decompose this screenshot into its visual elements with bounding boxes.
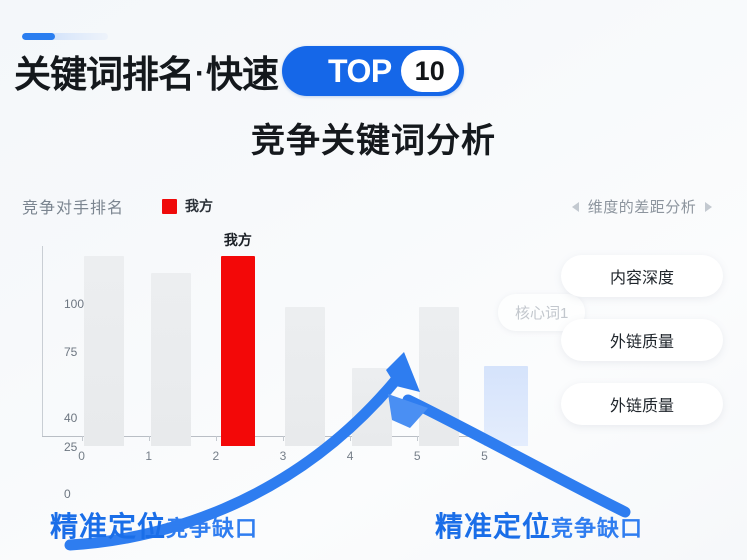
bar-5-blue[interactable] bbox=[484, 366, 528, 446]
bar-slot: 我方 bbox=[204, 256, 271, 446]
caption-left-primary: 精准定位 bbox=[50, 505, 166, 545]
x-axis-tick-mark bbox=[216, 436, 217, 441]
caption-right-secondary: 竞争缺口 bbox=[551, 511, 643, 543]
bar-0-grey[interactable] bbox=[84, 256, 124, 446]
x-axis-tick: 3 bbox=[249, 440, 316, 463]
progress-bar bbox=[22, 33, 108, 40]
badge-number: 10 bbox=[401, 50, 459, 92]
x-axis-tick-mark bbox=[350, 436, 351, 441]
badge-word: TOP bbox=[328, 53, 392, 90]
chart-plot-area: 1007540250 我方 bbox=[22, 246, 522, 446]
chart-title: 竞争对手排名 bbox=[22, 194, 124, 218]
bar-slot bbox=[406, 256, 473, 446]
bar-slot bbox=[271, 256, 338, 446]
x-axis-tick-mark bbox=[283, 436, 284, 441]
chart-legend: 我方 bbox=[162, 196, 213, 216]
bar-3-grey[interactable] bbox=[285, 307, 325, 446]
bar-slot bbox=[70, 256, 137, 446]
x-axis-tick-mark bbox=[417, 436, 418, 441]
bar-value-tag: 我方 bbox=[224, 230, 252, 250]
triangle-right-icon bbox=[705, 202, 712, 212]
x-axis-tick: 0 bbox=[48, 440, 115, 463]
progress-bar-fill bbox=[22, 33, 55, 40]
x-axis-tick: 5 bbox=[451, 440, 518, 463]
page-title-separator: · bbox=[194, 57, 206, 91]
x-axis-tick: 1 bbox=[115, 440, 182, 463]
bar-slot bbox=[137, 256, 204, 446]
x-axis-tick-mark bbox=[82, 436, 83, 441]
x-axis-tick-mark bbox=[484, 436, 485, 441]
caption-left: 精准定位 竞争缺口 bbox=[50, 505, 258, 545]
bar-1-grey[interactable] bbox=[151, 273, 191, 446]
page-subtitle: 竞争关键词分析 bbox=[0, 113, 747, 162]
legend-swatch-icon bbox=[162, 199, 177, 214]
legend-label: 我方 bbox=[185, 196, 213, 216]
x-axis-tick-labels: 0123455 bbox=[48, 440, 518, 463]
page-title: 关键词排名 · 快速 bbox=[14, 48, 278, 100]
competitor-chart-panel: 竞争对手排名 我方 1007540250 我方 0123455 bbox=[0, 188, 540, 478]
caption-right-primary: 精准定位 bbox=[435, 505, 551, 545]
dimension-card[interactable]: 外链质量 bbox=[561, 319, 723, 361]
page-title-main: 关键词排名 bbox=[14, 56, 194, 93]
x-axis-tick: 5 bbox=[384, 440, 451, 463]
dimension-gap-panel: 维度的差距分析 内容深度 外链质量 外链质量 bbox=[537, 188, 747, 425]
caption-left-secondary: 竞争缺口 bbox=[166, 511, 258, 543]
dimension-panel-title: 维度的差距分析 bbox=[588, 196, 697, 217]
chart-header: 竞争对手排名 我方 bbox=[22, 194, 213, 218]
bar-series: 我方 bbox=[70, 256, 540, 446]
bar-slot bbox=[473, 256, 540, 446]
dimension-panel-header: 维度的差距分析 bbox=[537, 196, 747, 217]
dimension-card[interactable]: 内容深度 bbox=[561, 255, 723, 297]
x-axis-tick: 2 bbox=[182, 440, 249, 463]
bar-5-grey[interactable] bbox=[419, 307, 459, 446]
bar-4-grey[interactable] bbox=[352, 368, 392, 446]
caption-right: 精准定位 竞争缺口 bbox=[435, 505, 643, 545]
page-title-sub: 快速 bbox=[206, 56, 278, 93]
dimension-card[interactable]: 外链质量 bbox=[561, 383, 723, 425]
bar-slot bbox=[339, 256, 406, 446]
x-axis-tick: 4 bbox=[317, 440, 384, 463]
triangle-left-icon bbox=[572, 202, 579, 212]
bar-2-red[interactable]: 我方 bbox=[221, 256, 255, 446]
x-axis-tick-mark bbox=[149, 436, 150, 441]
top-rank-badge: TOP 10 bbox=[282, 46, 464, 96]
